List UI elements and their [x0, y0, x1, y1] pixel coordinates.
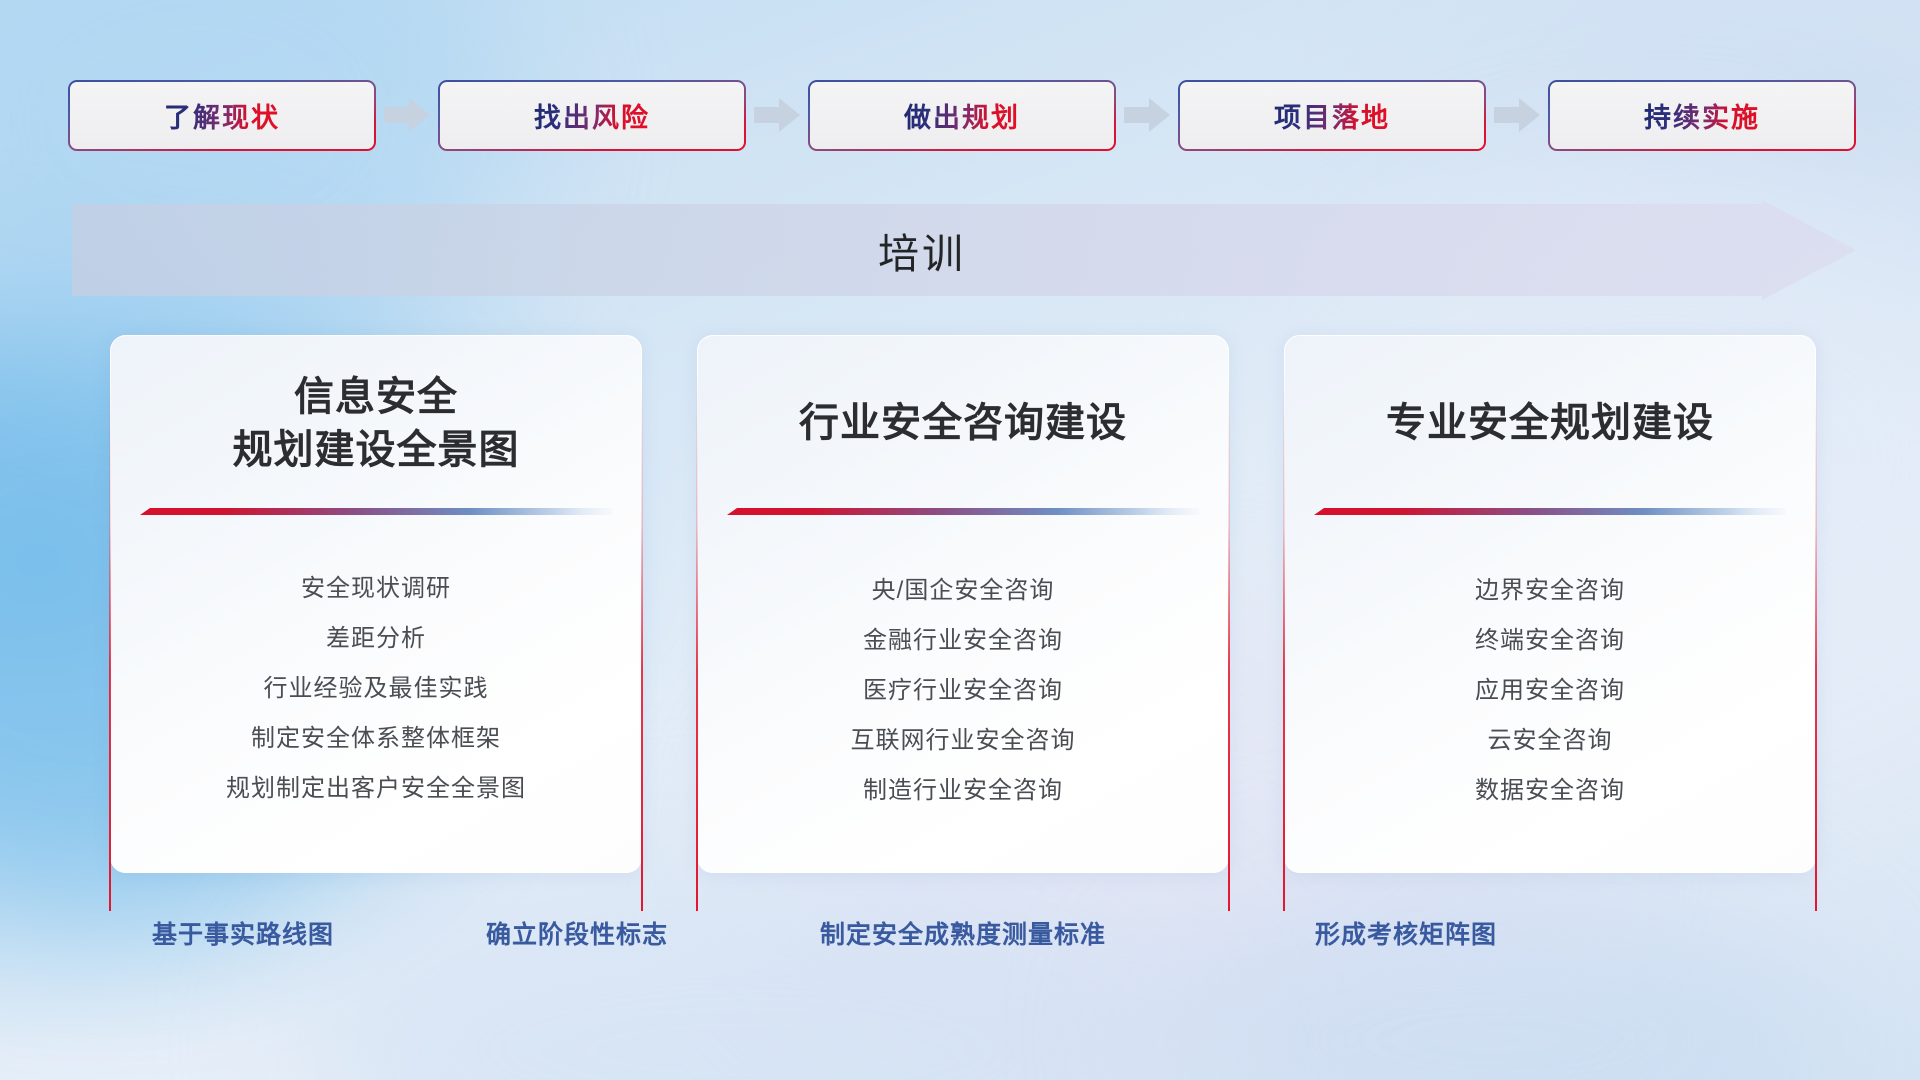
list-item: 数据安全咨询: [1284, 779, 1816, 803]
card-item-list: 边界安全咨询 终端安全咨询 应用安全咨询 云安全咨询 数据安全咨询: [1284, 579, 1816, 803]
list-item: 规划制定出客户安全全景图: [110, 777, 642, 801]
step-box-3[interactable]: 做出规划: [810, 82, 1114, 149]
list-item: 边界安全咨询: [1284, 579, 1816, 603]
arrow-right-icon: [1114, 95, 1180, 135]
footer-label-row: 基于事实路线图 确立阶段性标志 制定安全成熟度测量标准 形成考核矩阵图: [0, 915, 1920, 961]
list-item: 医疗行业安全咨询: [697, 679, 1229, 703]
list-item: 制定安全体系整体框架: [110, 727, 642, 751]
card-divider: [1314, 507, 1786, 521]
step-label: 了解现状: [164, 96, 280, 135]
step-box-5[interactable]: 持续实施: [1550, 82, 1854, 149]
list-item: 应用安全咨询: [1284, 679, 1816, 703]
list-item: 安全现状调研: [110, 577, 642, 601]
list-item: 央/国企安全咨询: [697, 579, 1229, 603]
background-blob: [0, 0, 520, 380]
card-2[interactable]: 行业安全咨询建设: [697, 335, 1229, 873]
footer-label-3: 制定安全成熟度测量标准: [820, 915, 1106, 951]
list-item: 互联网行业安全咨询: [697, 729, 1229, 753]
footer-label-1: 基于事实路线图: [152, 915, 334, 951]
background-blob: [1150, 880, 1850, 1080]
card-title-line: 信息安全: [110, 371, 642, 424]
list-item: 制造行业安全咨询: [697, 779, 1229, 803]
list-item: 云安全咨询: [1284, 729, 1816, 753]
step-box-4[interactable]: 项目落地: [1180, 82, 1484, 149]
list-item: 金融行业安全咨询: [697, 629, 1229, 653]
process-step-row: 了解现状 找出风险 做出规划 项目落地: [70, 80, 1860, 150]
card-title-line: 行业安全咨询建设: [697, 397, 1229, 450]
card-item-list: 央/国企安全咨询 金融行业安全咨询 医疗行业安全咨询 互联网行业安全咨询 制造行…: [697, 579, 1229, 803]
footer-label-2: 确立阶段性标志: [486, 915, 668, 951]
step-box-1[interactable]: 了解现状: [70, 82, 374, 149]
list-item: 差距分析: [110, 627, 642, 651]
slide-canvas: 了解现状 找出风险 做出规划 项目落地: [0, 0, 1920, 1080]
list-item: 行业经验及最佳实践: [110, 677, 642, 701]
card-title: 信息安全 规划建设全景图: [110, 371, 642, 477]
background-blob: [300, 860, 1200, 1080]
banner-title: 培训: [72, 200, 1772, 300]
card-divider: [727, 507, 1199, 521]
card-row: 信息安全 规划建设全景图: [110, 335, 1816, 875]
arrow-right-icon: [374, 95, 440, 135]
arrow-right-icon: [1484, 95, 1550, 135]
step-label: 持续实施: [1644, 96, 1760, 135]
card-title: 行业安全咨询建设: [697, 397, 1229, 450]
card-divider: [140, 507, 612, 521]
card-3[interactable]: 专业安全规划建设: [1284, 335, 1816, 873]
card-title-line: 专业安全规划建设: [1284, 397, 1816, 450]
step-box-2[interactable]: 找出风险: [440, 82, 744, 149]
card-item-list: 安全现状调研 差距分析 行业经验及最佳实践 制定安全体系整体框架 规划制定出客户…: [110, 577, 642, 801]
step-label: 项目落地: [1274, 96, 1390, 135]
step-label: 做出规划: [904, 96, 1020, 135]
card-title-line: 规划建设全景图: [110, 424, 642, 477]
card-title: 专业安全规划建设: [1284, 397, 1816, 450]
list-item: 终端安全咨询: [1284, 629, 1816, 653]
arrow-right-icon: [744, 95, 810, 135]
card-1[interactable]: 信息安全 规划建设全景图: [110, 335, 642, 873]
training-banner: 培训: [72, 200, 1856, 300]
step-label: 找出风险: [534, 96, 650, 135]
footer-label-4: 形成考核矩阵图: [1315, 915, 1497, 951]
